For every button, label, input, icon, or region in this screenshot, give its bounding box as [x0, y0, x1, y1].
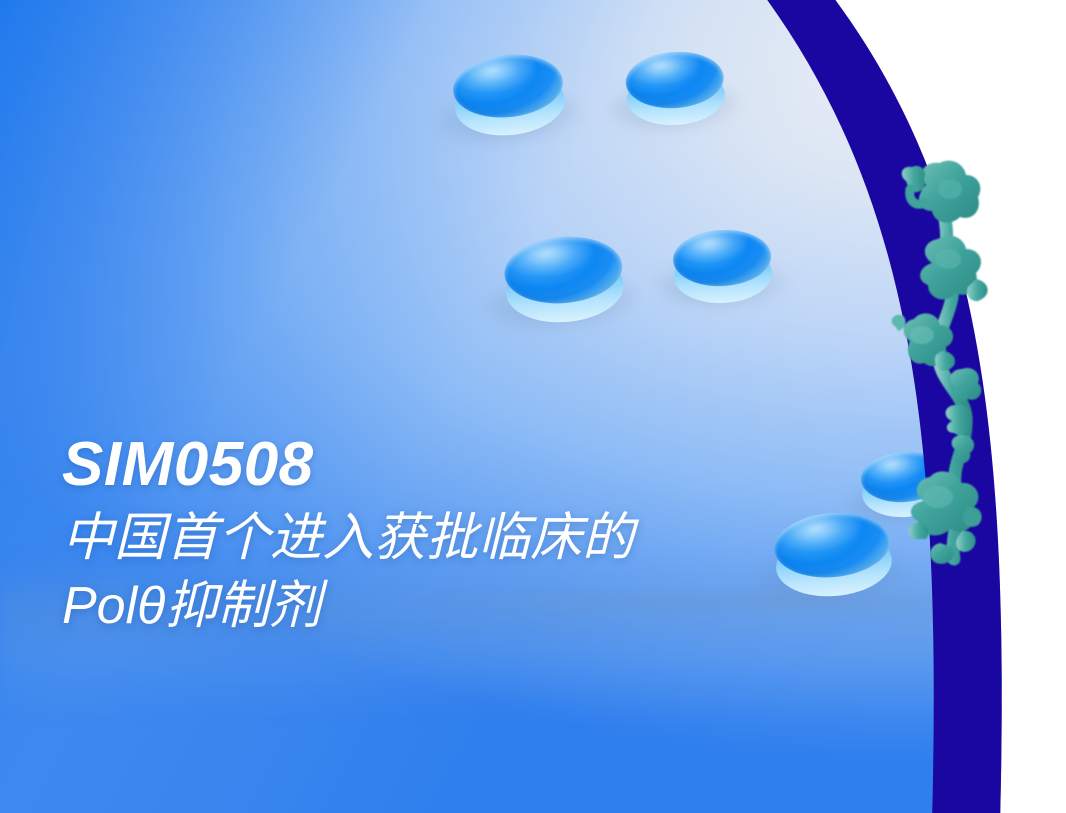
text-block: SIM0508 中国首个进入获批临床的 Polθ抑制剂	[62, 432, 852, 640]
page-subtitle-line2: Polθ抑制剂	[62, 573, 852, 641]
page-subtitle-line1: 中国首个进入获批临床的	[62, 505, 852, 573]
page-title: SIM0508	[62, 432, 852, 497]
poster-canvas: SIM0508 中国首个进入获批临床的 Polθ抑制剂	[0, 0, 1066, 813]
page-subtitle: 中国首个进入获批临床的 Polθ抑制剂	[62, 505, 852, 640]
protein-ribbon	[880, 155, 1066, 575]
